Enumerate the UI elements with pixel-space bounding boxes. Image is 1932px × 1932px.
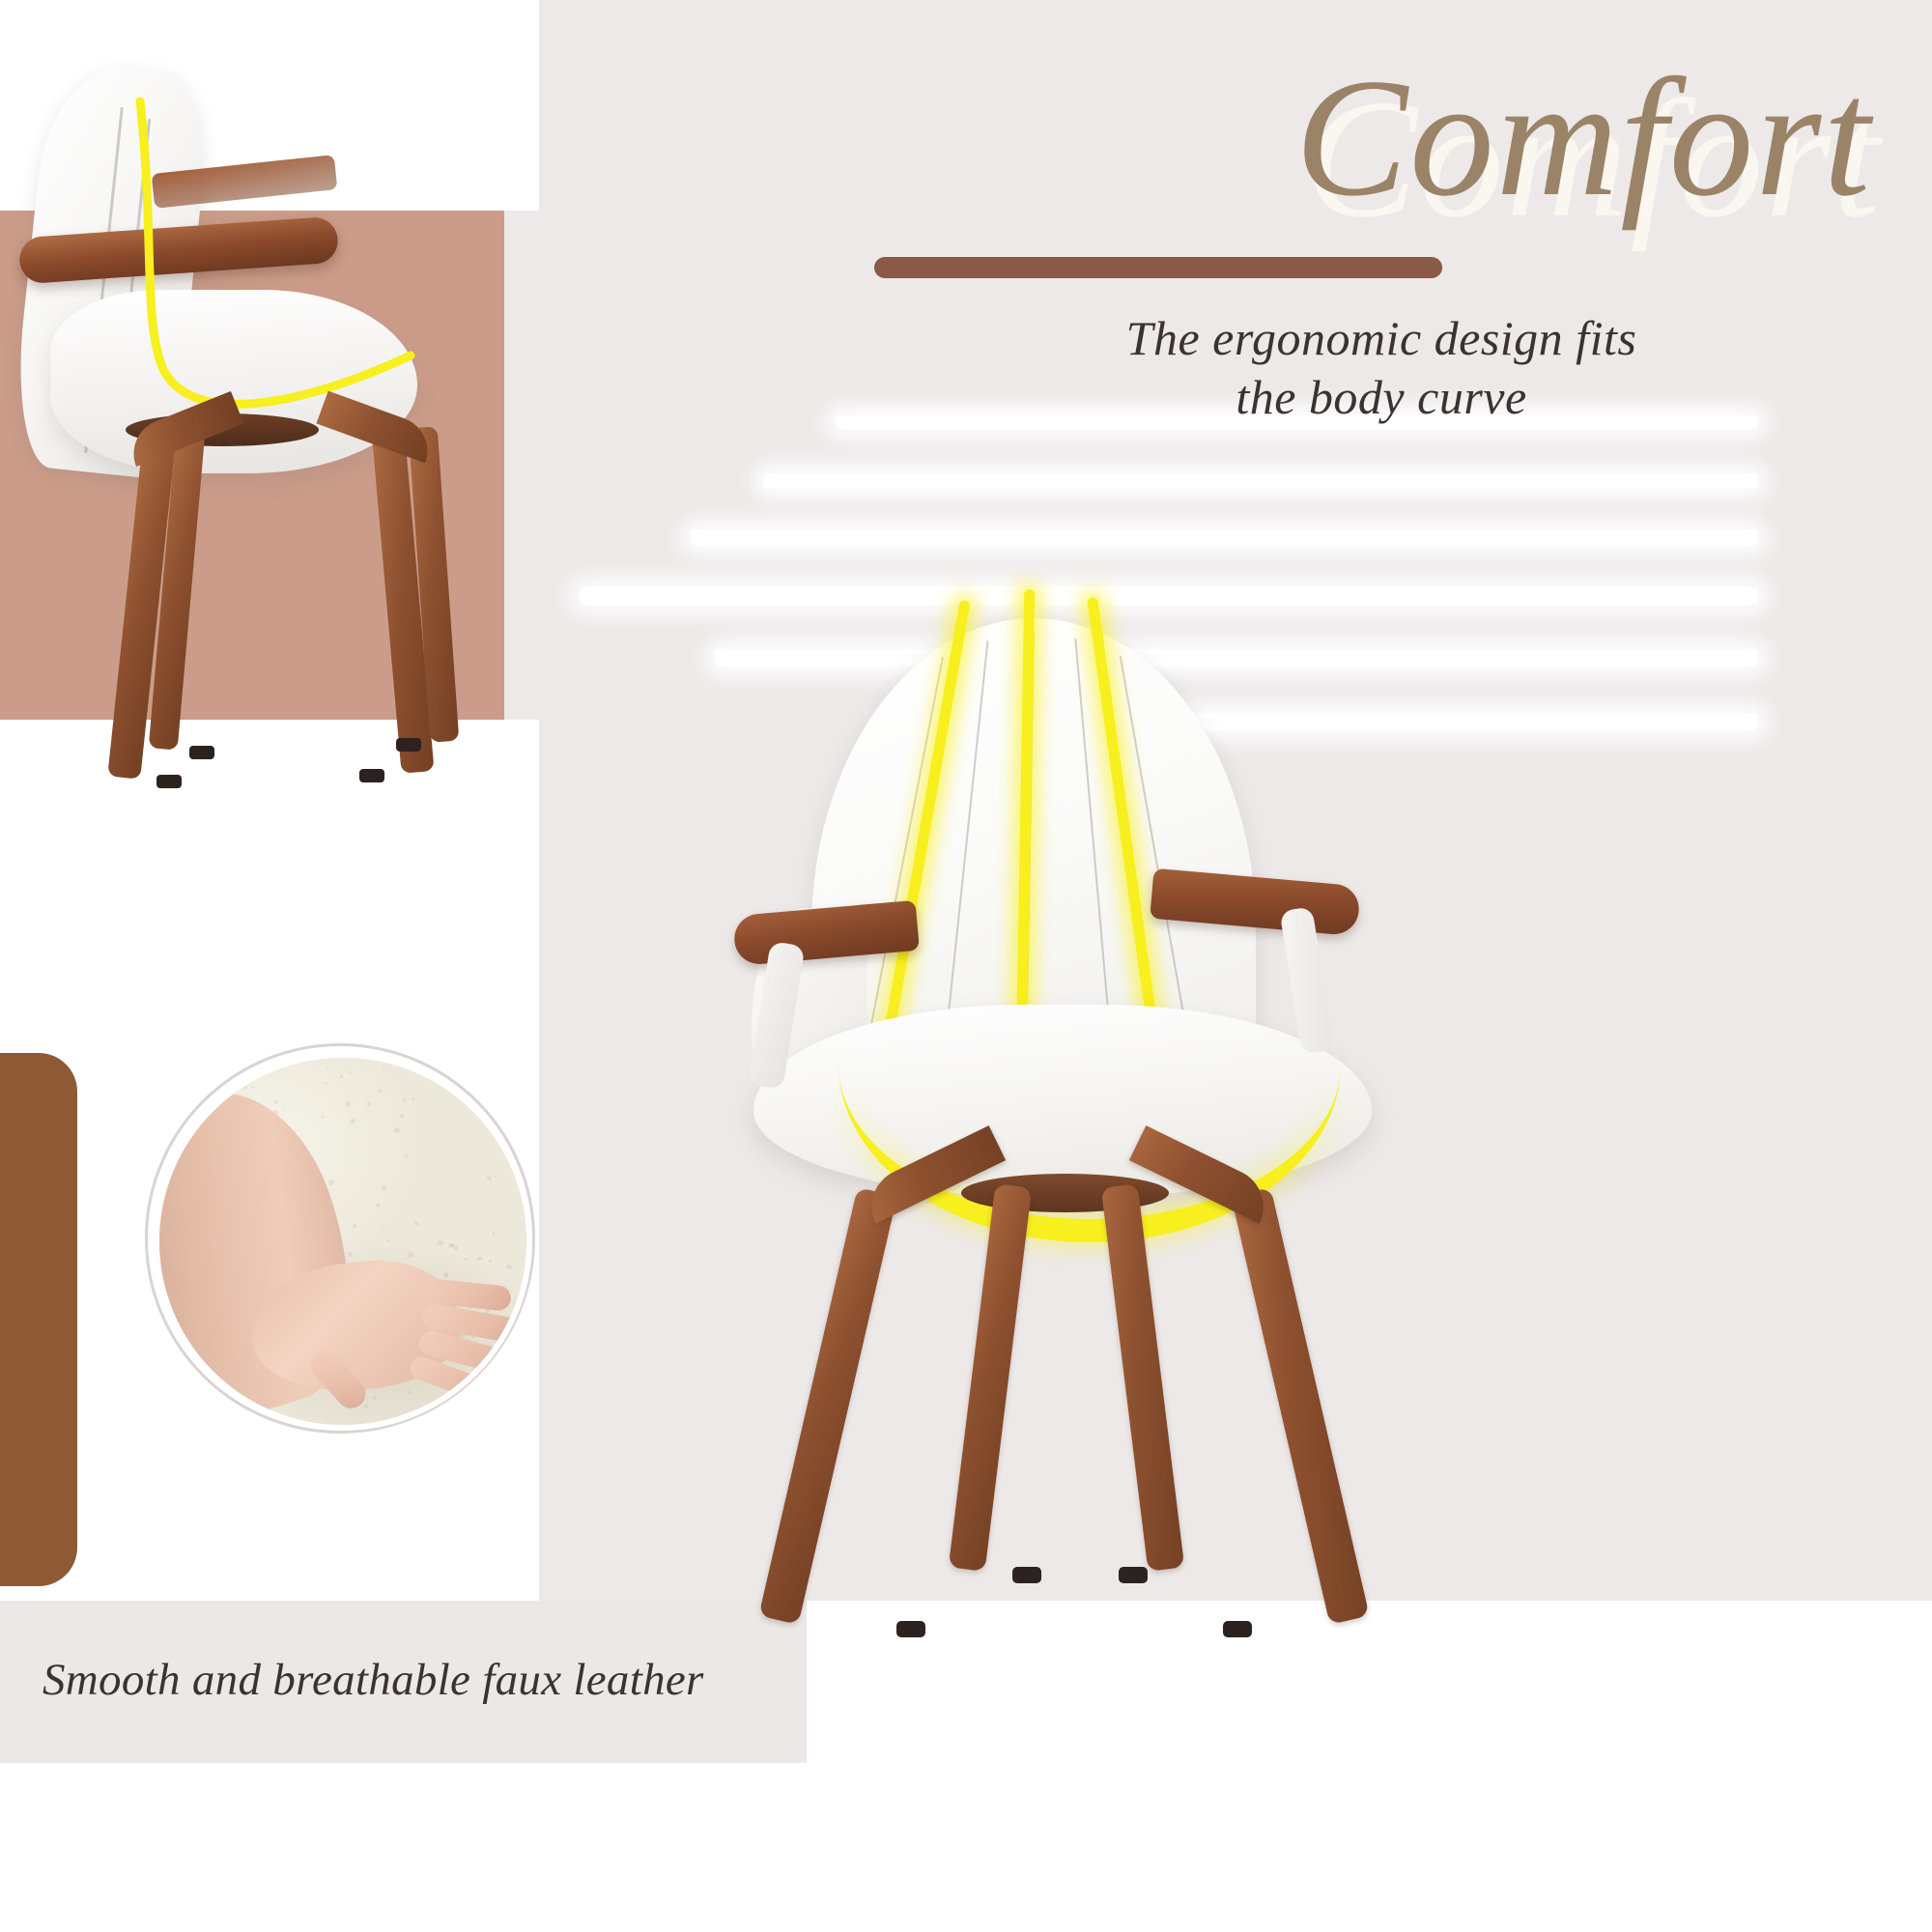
title-divider: [874, 257, 1442, 278]
foam-texture-speck: [494, 1383, 498, 1388]
foam-texture-speck: [346, 1101, 351, 1106]
foam-texture-speck: [525, 1321, 528, 1324]
foam-inset: [145, 1043, 535, 1434]
foam-texture-speck: [500, 1080, 505, 1085]
foam-texture-speck: [477, 1257, 481, 1261]
speed-line-4: [580, 587, 1758, 605]
foam-texture-speck: [531, 1301, 532, 1306]
foam-texture-speck: [440, 1394, 443, 1397]
background-panel-white-bottom: [0, 1763, 1932, 1932]
foam-texture-speck: [394, 1127, 400, 1133]
foot-back-right: [1119, 1567, 1148, 1583]
foam-texture-speck: [268, 1060, 273, 1065]
leg-back-left: [949, 1183, 1032, 1572]
subtitle: The ergonomic design fits the body curve: [869, 309, 1893, 427]
foam-texture-speck: [492, 1078, 495, 1081]
foam-texture-speck: [414, 1221, 419, 1226]
foam-texture-speck: [412, 1425, 414, 1428]
foam-texture-speck: [530, 1338, 532, 1340]
foam-texture-speck: [382, 1226, 384, 1228]
foam-texture-speck: [427, 1421, 433, 1427]
foam-texture-speck: [495, 1175, 497, 1178]
foam-texture-speck: [195, 1427, 200, 1431]
foam-texture-speck: [405, 1154, 408, 1157]
subtitle-line-1: The ergonomic design fits: [1126, 311, 1637, 365]
foam-texture-speck: [364, 1405, 368, 1408]
foam-texture-speck: [443, 1271, 448, 1276]
foam-texture-speck: [487, 1176, 492, 1180]
title-wrap: Comfort Comfort: [869, 29, 1893, 208]
foam-texture-speck: [486, 1407, 488, 1409]
subtitle-line-2: the body curve: [869, 368, 1893, 427]
side-foot-3: [359, 769, 384, 782]
leg-back-right: [1101, 1183, 1184, 1572]
foam-texture-speck: [506, 1264, 512, 1270]
chair-main: [715, 618, 1430, 1700]
foam-texture-speck: [400, 1114, 404, 1118]
foam-texture-speck: [511, 1125, 517, 1131]
speed-line-3: [691, 529, 1758, 546]
foam-texture-speck: [347, 1424, 350, 1427]
foam-texture-speck: [526, 1080, 529, 1084]
side-foot-4: [396, 738, 421, 752]
banner-canvas: Comfort Comfort The ergonomic design fit…: [0, 0, 1932, 1932]
leg-front-left: [758, 1187, 896, 1625]
foam-texture-speck: [493, 1232, 495, 1234]
foam-texture-speck: [501, 1397, 506, 1402]
foam-texture-speck: [251, 1086, 254, 1089]
foam-texture-speck: [367, 1101, 372, 1106]
foam-texture-speck: [408, 1391, 412, 1395]
foam-texture-speck: [383, 1065, 384, 1067]
side-foot-1: [156, 775, 182, 788]
foam-texture-speck: [325, 1082, 327, 1085]
foot-front-left: [896, 1621, 925, 1637]
foam-texture-speck: [379, 1089, 382, 1092]
header-block: Comfort Comfort The ergonomic design fit…: [869, 29, 1893, 208]
accent-bar-brown: [0, 1053, 77, 1586]
foam-texture-speck: [322, 1116, 324, 1118]
foam-texture-speck: [340, 1075, 342, 1077]
foam-texture-speck: [355, 1425, 357, 1428]
foam-texture-speck: [274, 1100, 278, 1104]
foam-texture-speck: [169, 1068, 174, 1073]
foam-texture-speck: [387, 1239, 389, 1241]
foam-texture-speck: [328, 1179, 334, 1185]
foot-back-left: [1012, 1567, 1041, 1583]
foam-texture-speck: [376, 1204, 381, 1208]
foam-texture-speck: [438, 1240, 442, 1245]
foam-texture-speck: [348, 1252, 353, 1257]
foam-texture-speck: [243, 1085, 247, 1089]
foam-texture-speck: [382, 1185, 386, 1190]
foam-ring-inner: [154, 1052, 532, 1431]
foam-texture-speck: [260, 1430, 262, 1431]
speed-line-2: [763, 473, 1758, 489]
foam-texture-speck: [282, 1109, 284, 1111]
foam-texture-speck: [373, 1396, 377, 1400]
foam-texture-speck: [154, 1146, 157, 1150]
foot-front-right: [1223, 1621, 1252, 1637]
foam-texture-speck: [489, 1260, 492, 1263]
side-foot-2: [189, 746, 214, 759]
foam-texture-speck: [350, 1119, 355, 1124]
foam-texture-speck: [448, 1403, 453, 1407]
page-title: Comfort: [1295, 41, 1872, 235]
foam-texture-speck: [194, 1427, 198, 1431]
chair-side: [10, 48, 551, 995]
foam-texture-speck: [193, 1093, 196, 1095]
foam-texture-speck: [454, 1246, 458, 1250]
foam-texture-speck: [465, 1258, 468, 1261]
foam-texture-speck: [488, 1095, 493, 1100]
foam-texture-speck: [353, 1224, 356, 1228]
caption-text: Smooth and breathable faux leather: [43, 1654, 704, 1706]
foam-texture-speck: [327, 1065, 328, 1067]
foam-texture-speck: [177, 1052, 179, 1054]
foam-texture-speck: [408, 1252, 413, 1258]
leg-front-right: [1231, 1187, 1369, 1625]
foam-texture-speck: [403, 1098, 406, 1101]
foam-texture-speck: [349, 1071, 351, 1073]
foam-texture-speck: [508, 1379, 514, 1385]
foam-texture-speck: [412, 1097, 414, 1100]
foam-texture-speck: [209, 1063, 213, 1067]
